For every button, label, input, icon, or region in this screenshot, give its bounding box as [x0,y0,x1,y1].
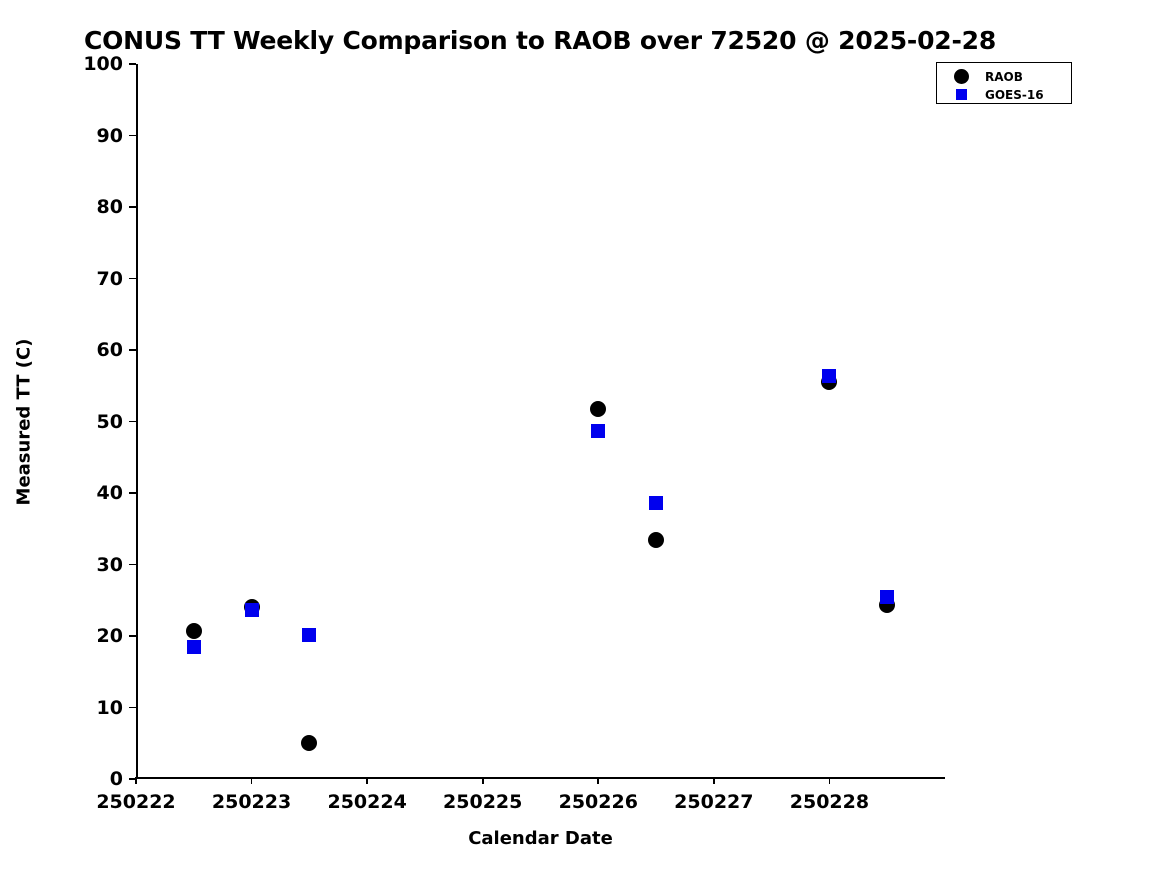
x-tick-mark [713,777,715,784]
legend-square-icon [937,89,985,100]
legend-label: GOES-16 [985,88,1044,102]
x-tick-mark [366,777,368,784]
y-tick-mark [129,135,136,137]
x-axis-line [136,777,945,779]
legend-item-goes-16: GOES-16 [937,85,1071,104]
x-tick-label: 250226 [559,791,638,813]
legend-item-raob: RAOB [937,67,1071,86]
y-tick-mark [129,278,136,280]
y-tick-mark [129,707,136,709]
y-tick-label: 20 [97,625,123,647]
x-tick-mark [597,777,599,784]
y-tick-label: 40 [97,482,123,504]
x-tick-label: 250223 [212,791,291,813]
data-point-goes-16 [822,369,836,383]
y-tick-label: 60 [97,339,123,361]
chart-title: CONUS TT Weekly Comparison to RAOB over … [0,26,1080,55]
chart-legend: RAOBGOES-16 [936,62,1072,104]
x-axis-label: Calendar Date [136,828,945,849]
data-point-goes-16 [302,628,316,642]
y-tick-label: 30 [97,554,123,576]
y-tick-label: 70 [97,268,123,290]
x-tick-mark [135,777,137,784]
data-point-goes-16 [649,496,663,510]
y-tick-label: 0 [110,768,123,790]
y-axis-line [136,64,138,779]
y-tick-label: 100 [83,53,123,75]
data-point-raob [648,532,664,548]
legend-label: RAOB [985,70,1023,84]
x-tick-label: 250224 [327,791,406,813]
data-point-raob [186,623,202,639]
plot-area: 0102030405060708090100 25022225022325022… [136,64,945,779]
y-tick-mark [129,492,136,494]
x-tick-mark [482,777,484,784]
y-axis-label: Measured TT (C) [14,302,35,542]
data-point-raob [590,401,606,417]
legend-marker-shape [954,69,969,84]
legend-circle-icon [937,69,985,84]
y-tick-mark [129,635,136,637]
data-point-goes-16 [880,590,894,604]
data-point-goes-16 [245,603,259,617]
chart-figure: CONUS TT Weekly Comparison to RAOB over … [0,0,1167,875]
x-tick-label: 250228 [790,791,869,813]
x-tick-label: 250225 [443,791,522,813]
y-tick-mark [129,421,136,423]
x-tick-label: 250227 [674,791,753,813]
data-point-raob [301,735,317,751]
y-tick-mark [129,564,136,566]
y-tick-label: 50 [97,411,123,433]
y-tick-mark [129,349,136,351]
x-tick-mark [251,777,253,784]
y-tick-label: 80 [97,196,123,218]
y-tick-mark [129,63,136,65]
x-tick-mark [829,777,831,784]
x-tick-label: 250222 [96,791,175,813]
legend-marker-shape [956,89,967,100]
data-point-goes-16 [187,640,201,654]
y-tick-label: 90 [97,125,123,147]
y-tick-mark [129,206,136,208]
data-point-goes-16 [591,424,605,438]
y-tick-label: 10 [97,697,123,719]
